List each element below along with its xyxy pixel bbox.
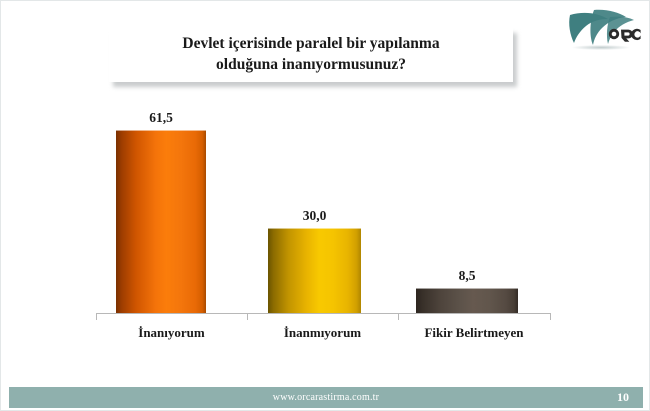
- bar-group-3: 8,5: [416, 289, 518, 313]
- category-label-1: İnanıyorum: [96, 325, 247, 341]
- chart-plot-area: 61,5 30,0 8,5 İnanıyorum İnanmıyorum Fik…: [1, 1, 650, 411]
- bar-inanmiyorum[interactable]: [268, 228, 361, 313]
- footer-website-url[interactable]: www.orcarastirma.com.tr: [9, 387, 643, 408]
- bar-inaniyorum[interactable]: [116, 130, 206, 313]
- page-number: 10: [617, 387, 629, 408]
- axis-tick-2: [398, 313, 399, 320]
- bar-value-label-1: 61,5: [116, 110, 206, 126]
- footer-bar: www.orcarastirma.com.tr 10: [9, 387, 643, 408]
- bar-group-2: 30,0: [268, 229, 361, 313]
- category-label-3: Fikir Belirtmeyen: [398, 325, 550, 341]
- axis-tick-1: [247, 313, 248, 320]
- bar-group-1: 61,5: [116, 131, 206, 313]
- bar-value-label-3: 8,5: [416, 268, 518, 284]
- axis-tick-start: [96, 313, 97, 320]
- category-label-2: İnanmıyorum: [247, 325, 398, 341]
- slide-canvas: Devlet içerisinde paralel bir yapılanma …: [0, 0, 650, 411]
- bar-fikir-belirtmeyen[interactable]: [416, 288, 518, 313]
- axis-tick-end: [550, 313, 551, 320]
- category-axis-line: [96, 313, 551, 314]
- bar-value-label-2: 30,0: [268, 208, 361, 224]
